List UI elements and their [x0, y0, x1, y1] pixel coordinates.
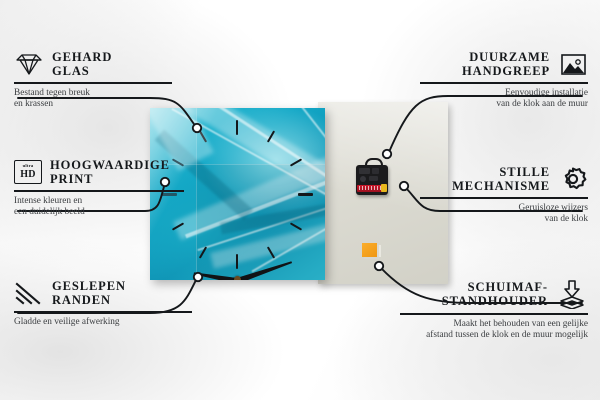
- feature-title-line2: MECHANISME: [452, 179, 550, 193]
- ultra-hd-icon-label: HD: [20, 170, 36, 180]
- feature-desc-line1: Geruisloze wijzers: [412, 203, 588, 214]
- feature-title-line1: SCHUIMAF-: [442, 280, 548, 294]
- connector-node-mechanisme: [400, 182, 408, 190]
- feature-rule: [14, 82, 172, 84]
- feature-title-line2: PRINT: [50, 172, 170, 186]
- feature-geslepen-randen[interactable]: GESLEPEN RANDEN Gladde en veilige afwerk…: [14, 279, 200, 328]
- feature-duurzame-handgreep[interactable]: DUURZAME HANDGREEP Eenvoudige installati…: [412, 50, 588, 110]
- diamond-icon: [14, 51, 44, 77]
- feature-title-line2: GLAS: [52, 64, 112, 78]
- feature-desc-line2: van de klok aan de muur: [412, 99, 588, 110]
- picture-frame-icon: [558, 51, 588, 77]
- feature-title-line1: GESLEPEN: [52, 279, 126, 293]
- feature-desc-line1: Intense kleuren en: [14, 196, 192, 207]
- connector-node-gehard-glas: [193, 124, 201, 132]
- gear-icon: [558, 165, 588, 193]
- connector-node-handgreep: [383, 150, 391, 158]
- feature-rule: [420, 82, 588, 84]
- feature-rule: [14, 190, 184, 192]
- feature-desc-line1: Bestand tegen breuk: [14, 88, 184, 99]
- feature-title-line2: RANDEN: [52, 293, 126, 307]
- feature-title-line1: HOOGWAARDIGE: [50, 158, 170, 172]
- infographic-canvas: GEHARD GLAS Bestand tegen breuk en krass…: [0, 0, 600, 400]
- feature-title-line1: DUURZAME: [462, 50, 550, 64]
- feature-gehard-glas[interactable]: GEHARD GLAS Bestand tegen breuk en krass…: [14, 50, 184, 110]
- feature-rule: [400, 313, 588, 315]
- feature-title-line2: HANDGREEP: [462, 64, 550, 78]
- feature-desc-line2: van de klok: [412, 214, 588, 225]
- feature-rule: [14, 311, 192, 313]
- feature-desc-line2: en krassen: [14, 99, 184, 110]
- feature-hoogwaardige-print[interactable]: ultra HD HOOGWAARDIGE PRINT Intense kleu…: [14, 158, 192, 218]
- feature-rule: [420, 197, 588, 199]
- feature-desc-line2: een duidelijk beeld: [14, 207, 192, 218]
- feature-schuimafstandhouder[interactable]: SCHUIMAF- STANDHOUDER Maakt het behouden…: [392, 279, 588, 341]
- beveled-edge-icon: [14, 280, 44, 306]
- feature-desc-line1: Gladde en veilige afwerking: [14, 317, 200, 328]
- feature-desc-line1: Eenvoudige installatie: [412, 88, 588, 99]
- connector-node-schuim: [375, 262, 383, 270]
- feature-desc-line2: afstand tussen de klok en de muur mogeli…: [392, 330, 588, 341]
- feature-title-line1: GEHARD: [52, 50, 112, 64]
- ultra-hd-icon: ultra HD: [14, 160, 42, 184]
- feature-stille-mechanisme[interactable]: STILLE MECHANISME Geruisloze wijzers van…: [412, 165, 588, 225]
- feature-title-line1: STILLE: [452, 165, 550, 179]
- feature-desc-line1: Maakt het behouden van een gelijke: [392, 319, 588, 330]
- feature-title-line2: STANDHOUDER: [442, 294, 548, 308]
- foam-spacer-icon: [556, 279, 588, 309]
